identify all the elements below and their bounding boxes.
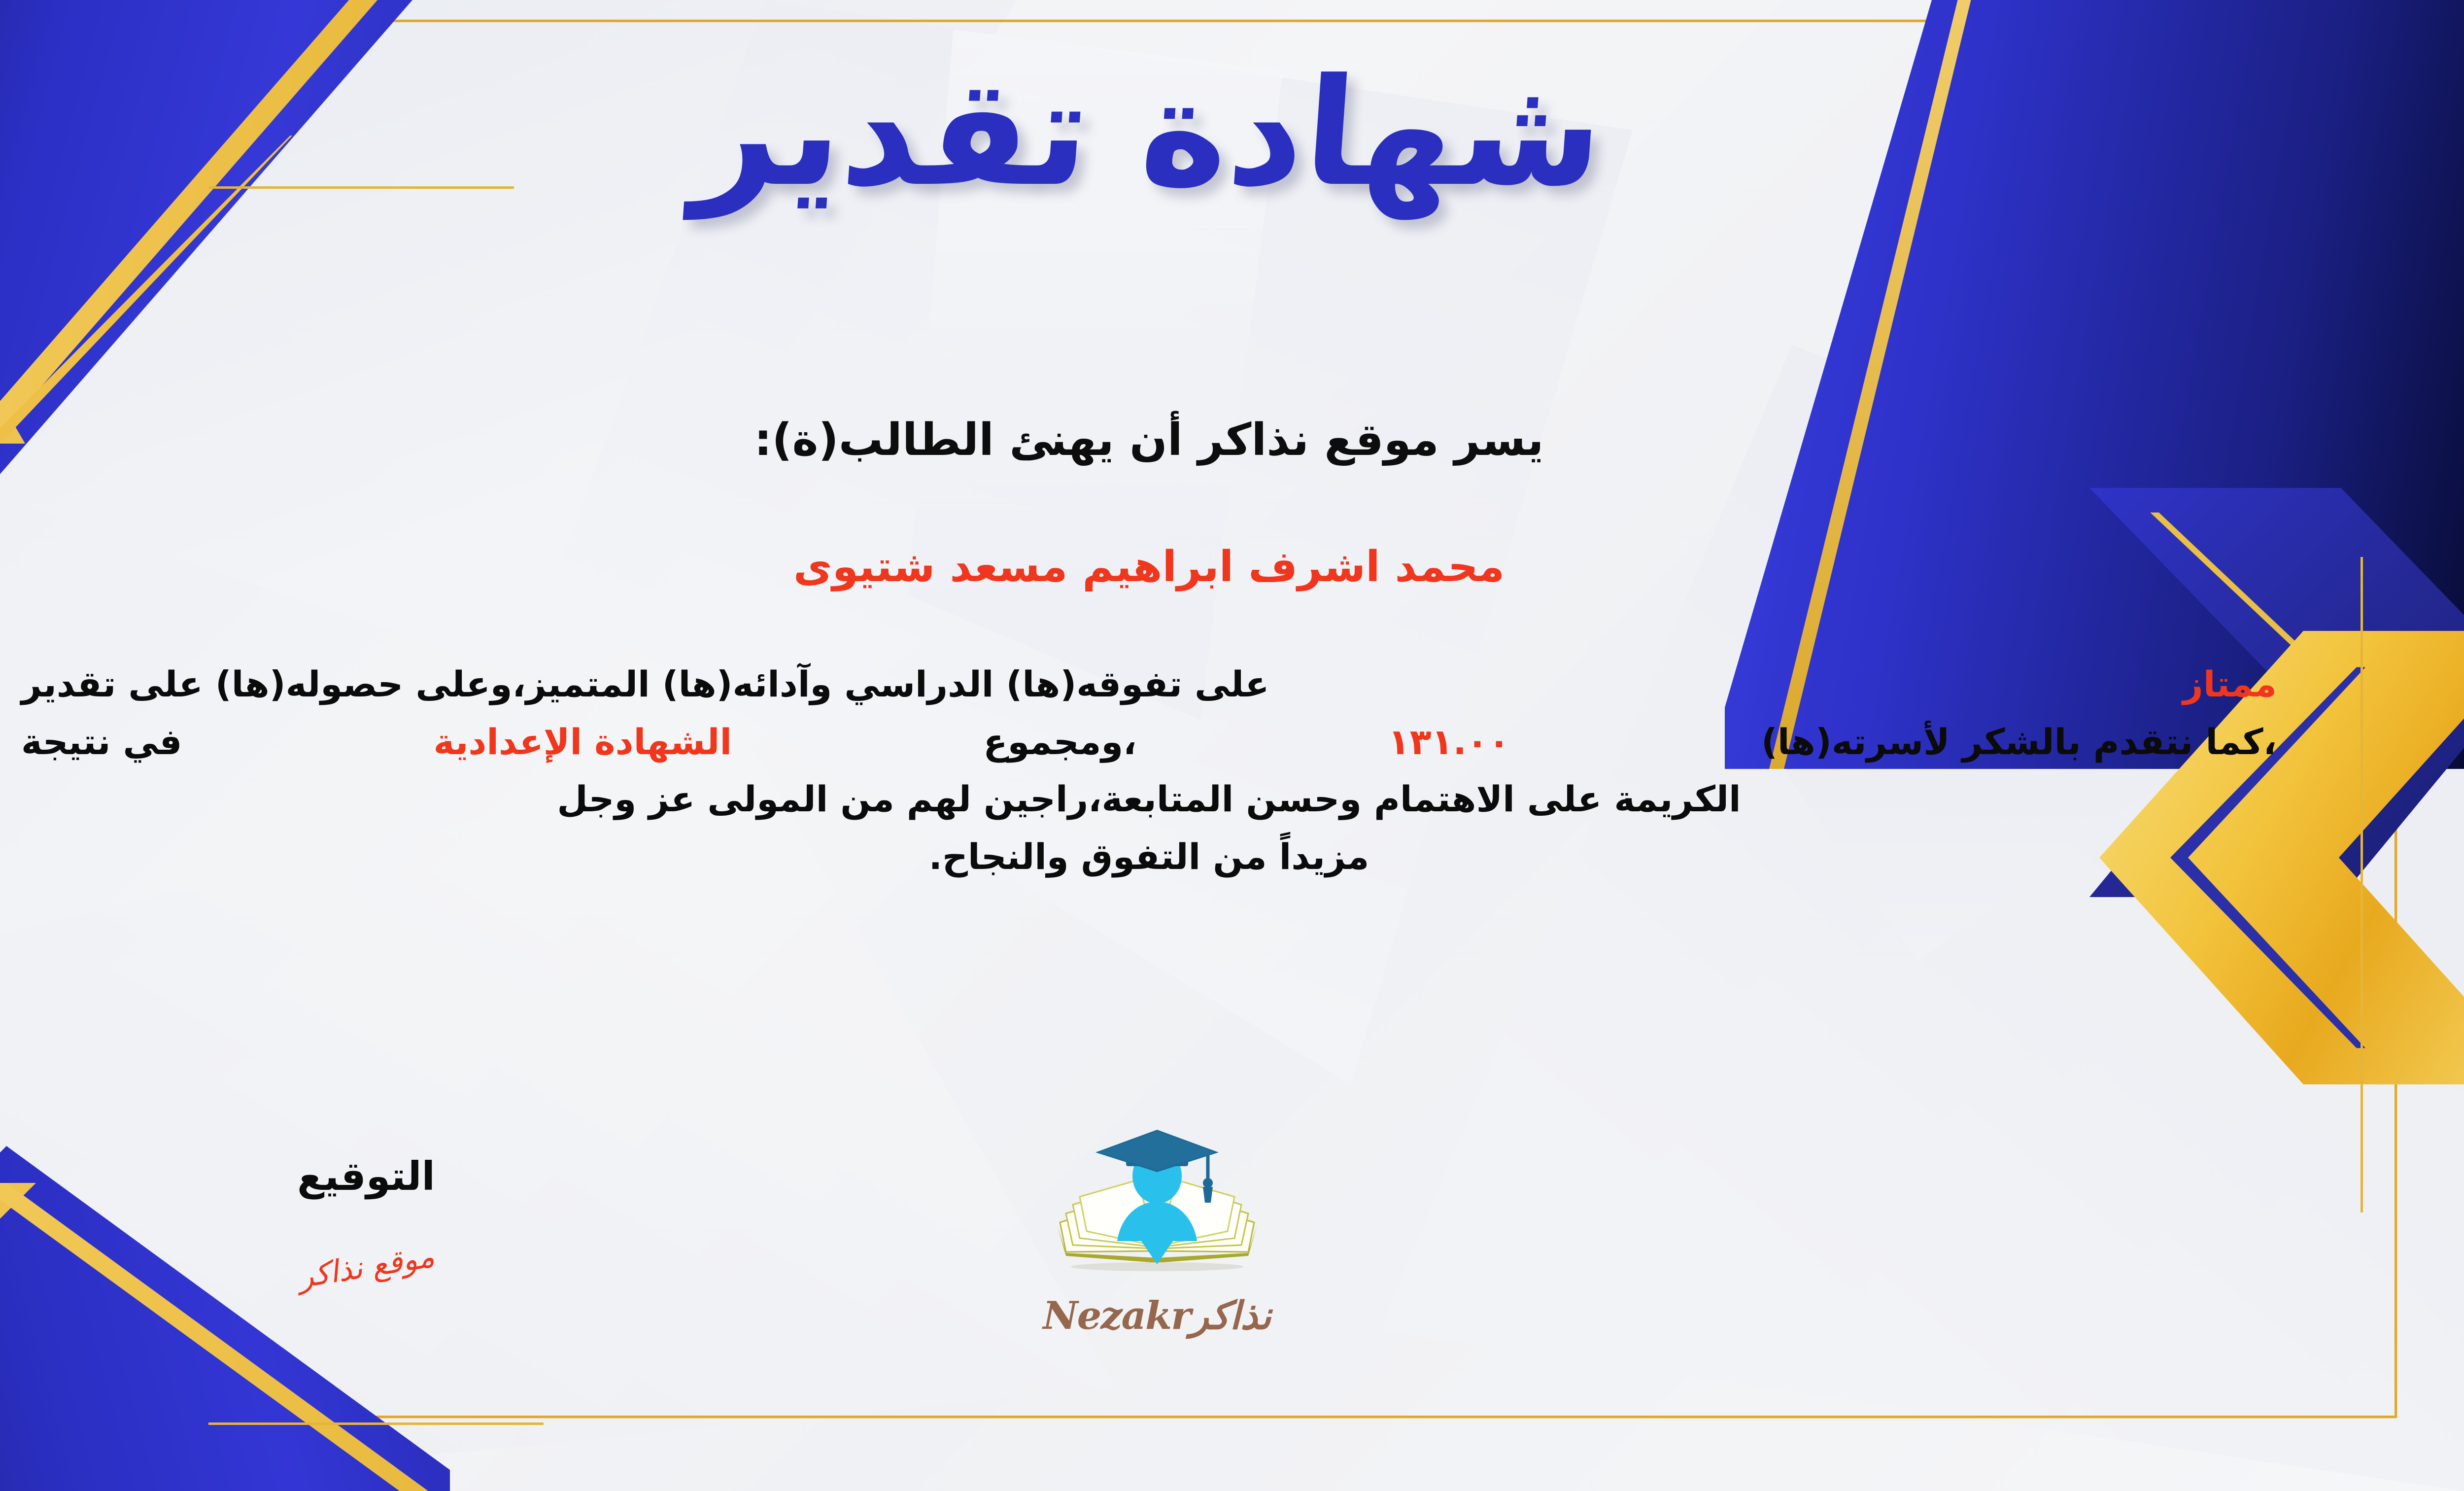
- body-line-4: مزيداً من التفوق والنجاح.: [21, 828, 2277, 886]
- signature-label: التوقيع: [238, 1153, 494, 1199]
- grade-value: ممتاز: [2183, 656, 2277, 713]
- student-name: محمد اشرف ابراهيم مسعد شتيوى: [0, 542, 2464, 591]
- certificate-canvas: شهادة تقدير يسر موقع نذاكر أن يهنئ الطال…: [0, 0, 2464, 1491]
- body-line-2: ،كما نتقدم بالشكر لأسرته(ها) ١٣١.٠٠ ،ومج…: [21, 713, 2277, 771]
- signature-script: موقع نذاكر: [296, 1238, 437, 1295]
- nezakr-logo: نذاكرNezakr: [985, 1129, 1330, 1338]
- body-line-3: الكريمة على الاهتمام وحسن المتابعة،راجين…: [21, 770, 2277, 828]
- greeting-text: يسر موقع نذاكر أن يهنئ الطالب(ة):: [0, 414, 2464, 466]
- exam-name-value: الشهادة الإعدادية: [434, 713, 732, 771]
- certificate-title: شهادة تقدير: [0, 59, 2464, 207]
- logo-latin-text: Nezakr: [1043, 1293, 1190, 1338]
- signature-block: التوقيع موقع نذاكر: [238, 1153, 494, 1284]
- body-line-1-text: على تفوقه(ها) الدراسي وآدائه(ها) المتميز…: [21, 656, 1269, 713]
- graduation-book-icon: [1051, 1129, 1263, 1291]
- logo-wordmark: نذاكرNezakr: [985, 1293, 1330, 1338]
- body-line-2-middle: ،ومجموع: [983, 713, 1136, 771]
- body-line-1: ممتاز على تفوقه(ها) الدراسي وآدائه(ها) ا…: [21, 656, 2277, 713]
- body-line-2-suffix: ،كما نتقدم بالشكر لأسرته(ها): [1761, 713, 2277, 771]
- certificate-body: ممتاز على تفوقه(ها) الدراسي وآدائه(ها) ا…: [21, 656, 2277, 886]
- logo-arabic-text: نذاكر: [1190, 1293, 1271, 1338]
- body-line-2-prefix: في نتيجة: [21, 713, 182, 771]
- total-score-value: ١٣١.٠٠: [1388, 713, 1510, 771]
- certificate-content: شهادة تقدير يسر موقع نذاكر أن يهنئ الطال…: [0, 0, 2464, 1491]
